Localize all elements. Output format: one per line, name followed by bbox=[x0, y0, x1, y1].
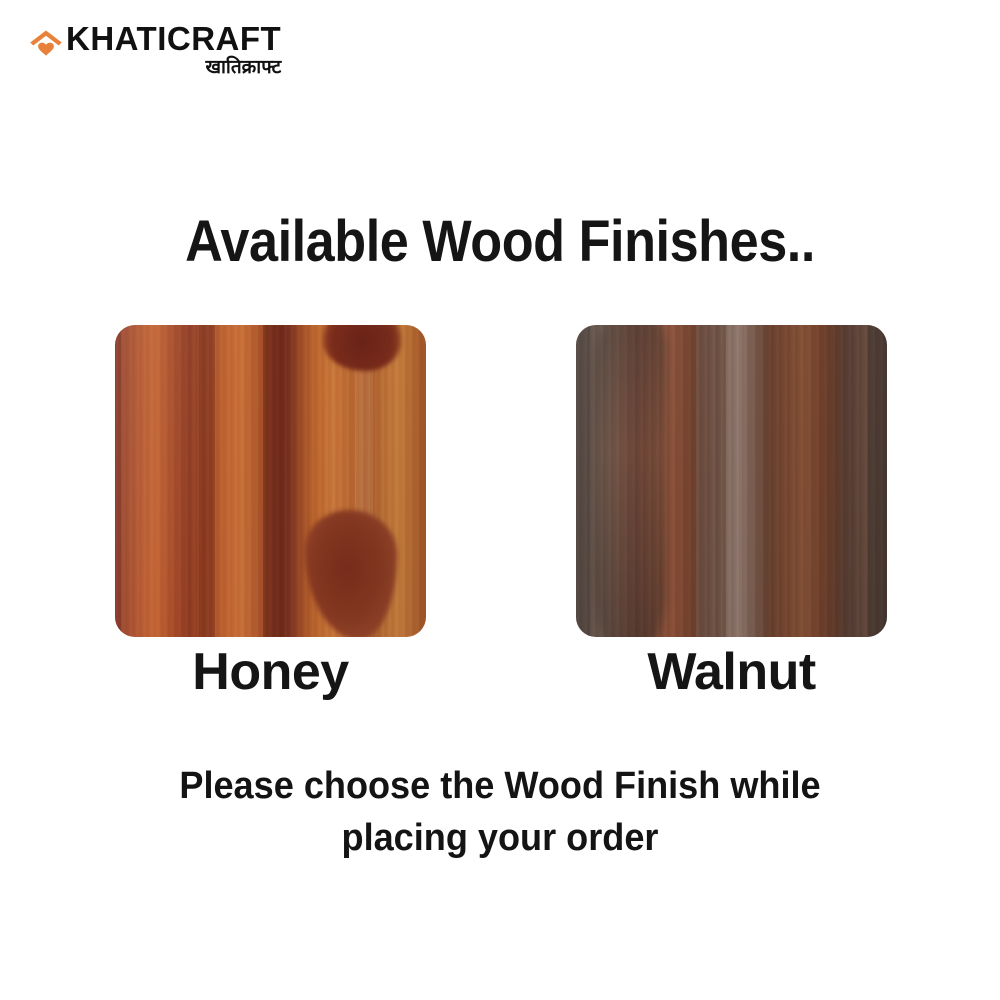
brand-name: KHATICRAFT bbox=[66, 22, 281, 56]
honey-label: Honey bbox=[115, 643, 426, 701]
page-title: Available Wood Finishes.. bbox=[50, 208, 950, 275]
walnut-wood-swatch[interactable] bbox=[576, 325, 887, 637]
wood-finish-option-walnut[interactable]: Walnut bbox=[576, 325, 887, 701]
house-heart-icon bbox=[28, 26, 64, 62]
instruction-line-1: Please choose the Wood Finish while bbox=[168, 760, 833, 812]
instruction-line-2: placing your order bbox=[168, 812, 833, 864]
wood-finish-option-honey[interactable]: Honey bbox=[115, 325, 426, 701]
instruction-note: Please choose the Wood Finish while plac… bbox=[168, 760, 833, 865]
wood-finish-options: Honey Walnut bbox=[0, 325, 1000, 700]
walnut-sheen-overlay bbox=[576, 325, 887, 637]
walnut-label: Walnut bbox=[576, 643, 887, 701]
honey-wood-swatch[interactable] bbox=[115, 325, 426, 637]
honey-sheen-overlay bbox=[115, 325, 426, 637]
brand-subtitle-devanagari: खातिक्राफ्ट bbox=[205, 58, 281, 78]
brand-logo: KHATICRAFT खातिक्राफ्ट bbox=[28, 22, 281, 78]
